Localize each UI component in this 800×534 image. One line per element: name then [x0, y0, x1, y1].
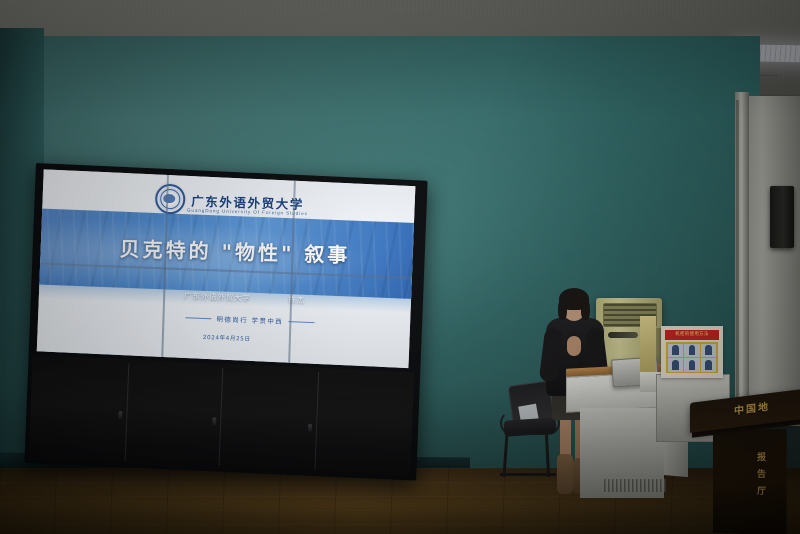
- poster-cell: [668, 358, 683, 371]
- slide-header: 广东外语外贸大学 GuangDong University Of Foreign…: [155, 184, 304, 218]
- presenter-hands: [567, 336, 581, 356]
- wall-seam: [736, 100, 739, 420]
- slide-presenter: 陈杰: [288, 294, 305, 306]
- poster-cell: [684, 344, 699, 357]
- poster-cell: [701, 358, 716, 371]
- slide-date: 2024年4月25日: [203, 333, 251, 343]
- cabinet-door-seam-1: [125, 363, 130, 461]
- podium-vent-slots: [604, 479, 666, 492]
- cabinet-door-seam-2: [219, 368, 224, 466]
- presenter-hair-side-left: [558, 300, 567, 320]
- presenter-hair-side-right: [581, 300, 590, 320]
- slide-motto-text: 明德尚行 学贯中西: [216, 313, 283, 326]
- podium-lower-body: [580, 408, 664, 498]
- cabinet-handle-2[interactable]: [212, 417, 216, 425]
- dark-equipment-cabinet[interactable]: [29, 355, 415, 478]
- poster-cell: [684, 358, 699, 371]
- cabinet-handle-1[interactable]: [118, 411, 122, 419]
- presentation-screen[interactable]: 广东外语外贸大学 GuangDong University Of Foreign…: [37, 169, 416, 368]
- right-wall-panel: [742, 96, 800, 426]
- poster-header: 机柜的使用方法: [665, 330, 719, 340]
- slide: 广东外语外贸大学 GuangDong University Of Foreign…: [37, 169, 416, 368]
- lecture-hall-photo: 广东外语外贸大学 GuangDong University Of Foreign…: [0, 0, 800, 534]
- lectern-column: [713, 429, 787, 534]
- video-wall[interactable]: 广东外语外贸大学 GuangDong University Of Foreign…: [24, 163, 427, 481]
- cabinet-door-seam-3: [314, 372, 319, 470]
- wooden-lectern-sign: 中国地 报告厅: [690, 396, 800, 534]
- motto-rule-left: [186, 317, 212, 319]
- poster-cell: [701, 344, 716, 357]
- chair-leg-front: [502, 433, 508, 477]
- wall-mounted-speaker: [770, 186, 794, 248]
- instruction-poster: 机柜的使用方法: [661, 326, 723, 378]
- cooler-control-panel[interactable]: [608, 332, 638, 338]
- slide-motto-row: 明德尚行 学贯中西: [185, 312, 314, 327]
- poster-title: 机柜的使用方法: [665, 330, 719, 340]
- poster-cell: [668, 344, 683, 357]
- motto-rule-right: [288, 321, 314, 323]
- cabinet-handle-3[interactable]: [308, 424, 312, 432]
- side-yellow-cabinet: [640, 316, 656, 374]
- poster-photo-grid: [666, 342, 718, 373]
- university-logo-icon: [155, 184, 186, 215]
- lectern-vertical-text: 报告厅: [754, 452, 767, 503]
